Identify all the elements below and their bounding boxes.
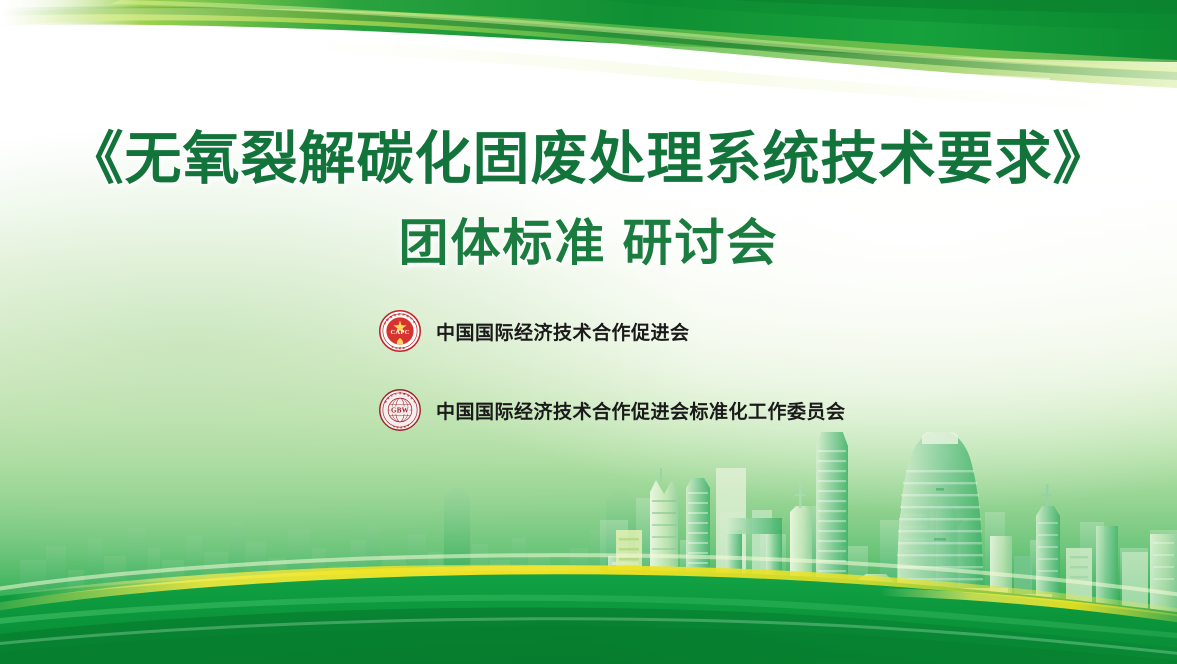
svg-text:GBW: GBW xyxy=(391,407,409,415)
capc-seal-icon: CAPC 中 国 国 际 经 济 技 术 合 作 xyxy=(378,309,422,353)
page-subtitle: 团体标准 研讨会 xyxy=(0,203,1177,275)
organization-row-gbw: GBW 标 准 化 工 作 委 员 会 ※ 中 国 xyxy=(378,387,846,433)
svg-text:CAPC: CAPC xyxy=(390,329,409,336)
organization-name: 中国国际经济技术合作促进会 xyxy=(436,318,690,345)
slide-content: 《无氧裂解碳化固废处理系统技术要求》 团体标准 研讨会 CAPC 中 国 国 xyxy=(0,0,1177,664)
gbw-seal-icon: GBW 标 准 化 工 作 委 员 会 ※ 中 国 xyxy=(378,388,422,432)
organization-name: 中国国际经济技术合作促进会标准化工作委员会 xyxy=(436,397,846,424)
page-title: 《无氧裂解碳化固废处理系统技术要求》 xyxy=(0,113,1177,195)
organization-list: CAPC 中 国 国 际 经 济 技 术 合 作 xyxy=(378,308,846,433)
organization-row-capc: CAPC 中 国 国 际 经 济 技 术 合 作 xyxy=(378,308,846,354)
presentation-slide: 《无氧裂解碳化固废处理系统技术要求》 团体标准 研讨会 CAPC 中 国 国 xyxy=(0,0,1177,664)
